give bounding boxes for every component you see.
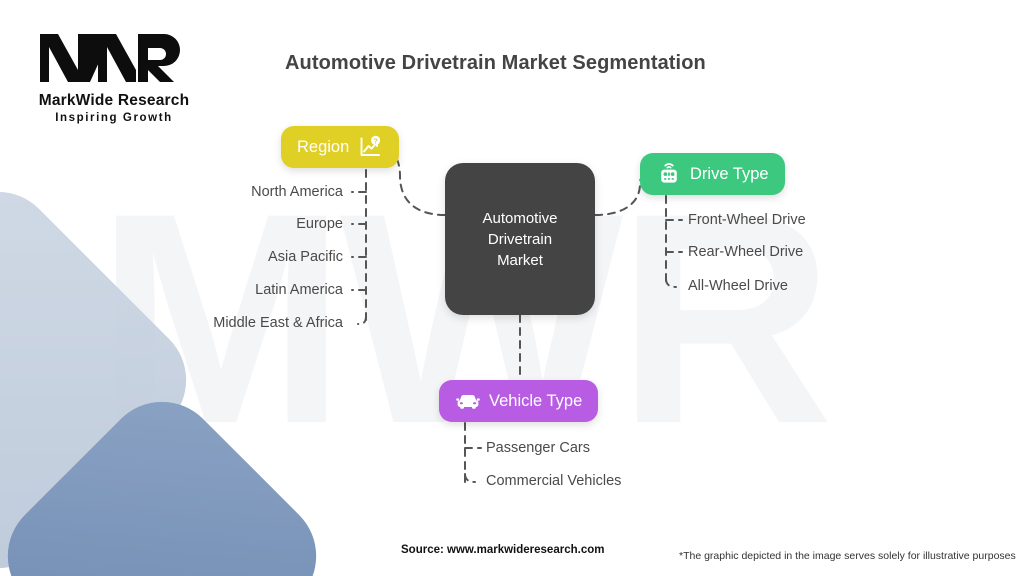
center-line-3: Market — [497, 252, 543, 269]
badge-label-region: Region — [297, 138, 349, 157]
disclaimer-text: *The graphic depicted in the image serve… — [679, 550, 1016, 562]
leaf-vehicle-type-2: Commercial Vehicles — [486, 473, 621, 489]
branch-badge-region[interactable]: Region ? — [281, 126, 399, 168]
infographic-canvas: MWR MarkWide Research Inspiring Growth A… — [0, 0, 1024, 576]
leaf-region-5: Middle East & Africa — [60, 315, 343, 331]
center-node: AutomotiveDrivetrainMarket — [445, 163, 595, 315]
badge-label-drive-type: Drive Type — [690, 165, 769, 184]
leaf-region-4: Latin America — [60, 282, 343, 298]
car-front-icon — [455, 388, 481, 414]
center-node-label: AutomotiveDrivetrainMarket — [482, 208, 557, 271]
source-text: Source: www.markwideresearch.com — [401, 544, 604, 556]
center-line-1: Automotive — [482, 210, 557, 227]
leaf-region-3: Asia Pacific — [60, 249, 343, 265]
leaf-region-1: North America — [60, 184, 343, 200]
leaf-drive-type-1: Front-Wheel Drive — [688, 212, 806, 228]
center-line-2: Drivetrain — [488, 231, 552, 248]
tram-front-icon — [656, 161, 682, 187]
leaf-drive-type-3: All-Wheel Drive — [688, 278, 788, 294]
leaf-region-2: Europe — [60, 216, 343, 232]
branch-badge-vehicle-type[interactable]: Vehicle Type — [439, 380, 598, 422]
leaf-vehicle-type-1: Passenger Cars — [486, 440, 590, 456]
chart-question-icon: ? — [357, 134, 383, 160]
leaf-drive-type-2: Rear-Wheel Drive — [688, 244, 803, 260]
svg-text:?: ? — [374, 136, 379, 145]
branch-badge-drive-type[interactable]: Drive Type — [640, 153, 785, 195]
badge-label-vehicle-type: Vehicle Type — [489, 392, 582, 411]
